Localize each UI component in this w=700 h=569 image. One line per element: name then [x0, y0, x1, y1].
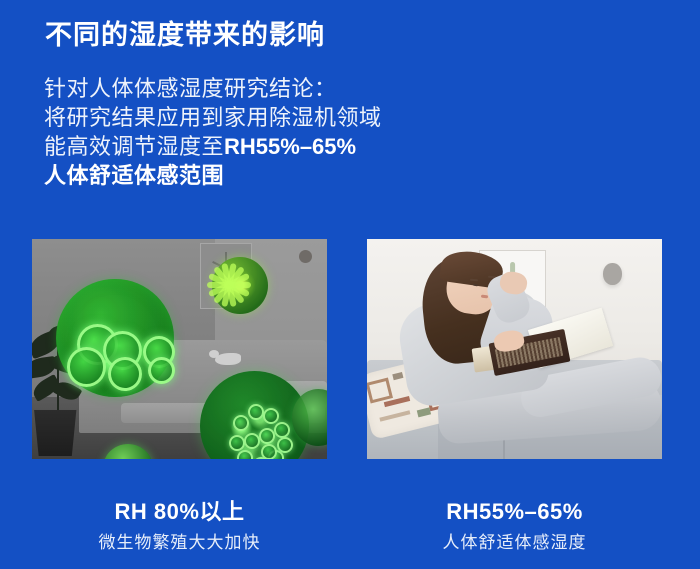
- poster-canvas: 不同的湿度带来的影响 针对人体体感湿度研究结论： 将研究结果应用到家用除湿机领域…: [0, 0, 700, 569]
- microbe-cell: [233, 415, 249, 431]
- caption-right-subtitle: 人体舒适体感湿度: [367, 531, 662, 554]
- bird-ornament: [215, 353, 241, 365]
- pillow-pattern: [392, 372, 403, 381]
- caption-right-title: RH55%–65%: [367, 498, 662, 526]
- wall-knob: [603, 263, 622, 285]
- pillow-pattern: [417, 407, 431, 418]
- microbe-cell: [108, 357, 142, 392]
- intro-line-2: 将研究结果应用到家用除湿机领域: [44, 103, 474, 132]
- microbe-cluster-large: [56, 279, 174, 398]
- photo-left-mold-room: [32, 239, 327, 459]
- microbe-cell: [274, 422, 290, 438]
- microbe-wall: [212, 257, 268, 314]
- intro-line-4: 人体舒适体感范围: [44, 161, 474, 190]
- caption-right: RH55%–65% 人体舒适体感湿度: [367, 498, 662, 554]
- humidity-range-highlight: RH55%–65%: [224, 134, 356, 159]
- pillow-pattern: [379, 411, 411, 423]
- microbe-cell: [248, 404, 264, 420]
- microbe-cell: [148, 357, 175, 384]
- microbe-cell: [261, 444, 277, 459]
- plant-pot: [32, 410, 78, 456]
- caption-left-title: RH 80%以上: [32, 498, 327, 526]
- intro-text-block: 针对人体体感湿度研究结论： 将研究结果应用到家用除湿机领域 能高效调节湿度至RH…: [44, 74, 474, 190]
- intro-line-3-prefix: 能高效调节湿度至: [44, 134, 224, 159]
- microbe-cell: [229, 435, 245, 451]
- microbe-cell: [259, 428, 275, 444]
- page-title: 不同的湿度带来的影响: [45, 17, 325, 53]
- intro-line-1: 针对人体体感湿度研究结论：: [44, 74, 474, 103]
- microbe-cell: [244, 433, 260, 449]
- caption-left-subtitle: 微生物繁殖大大加快: [32, 531, 327, 554]
- right-scene: [367, 239, 662, 459]
- woman-eyebrow: [470, 278, 478, 281]
- photo-right-comfort-room: [367, 239, 662, 459]
- microbe-cell: [237, 450, 253, 459]
- intro-line-3: 能高效调节湿度至RH55%–65%: [44, 132, 474, 161]
- caption-left: RH 80%以上 微生物繁殖大大加快: [32, 498, 327, 554]
- microbe-cell: [67, 347, 106, 386]
- left-scene: [32, 239, 327, 459]
